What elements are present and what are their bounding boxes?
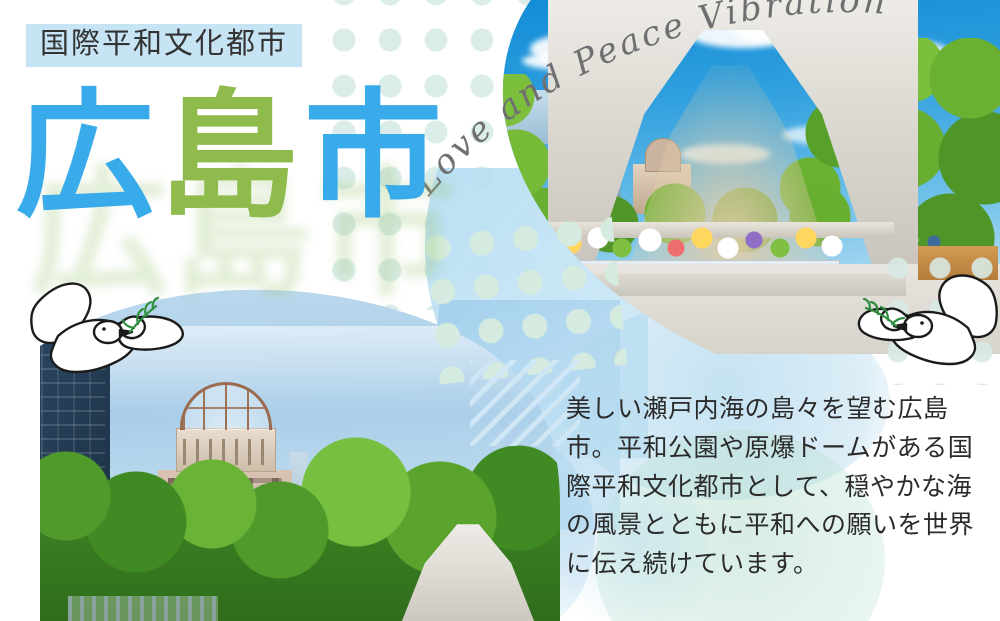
park-fence bbox=[68, 596, 218, 621]
city-name-block: 広島市 広島市 bbox=[16, 88, 448, 226]
hiroshima-city-poster: 国際平和文化都市 広島市 広島市 Love and Peace Vibratio… bbox=[0, 0, 1000, 621]
city-name-char-2: 島 bbox=[160, 76, 304, 237]
city-name-char-1: 広 bbox=[16, 76, 160, 237]
page-title: 広島市 bbox=[16, 88, 448, 226]
dove-icon-left bbox=[22, 276, 194, 396]
tagline-badge: 国際平和文化都市 bbox=[26, 24, 302, 67]
tagline-text: 国際平和文化都市 bbox=[40, 28, 288, 60]
dove-icon-right bbox=[856, 268, 1000, 380]
script-tagline: Love and Peace Vibration bbox=[400, 0, 960, 226]
flower-offerings bbox=[556, 226, 856, 262]
script-tagline-text: Love and Peace Vibration bbox=[405, 0, 890, 203]
city-name-char-3: 市 bbox=[304, 76, 448, 237]
description-paragraph: 美しい瀬戸内海の島々を望む広島市。平和公園や原爆ドームがある国際平和文化都市とし… bbox=[566, 390, 986, 584]
